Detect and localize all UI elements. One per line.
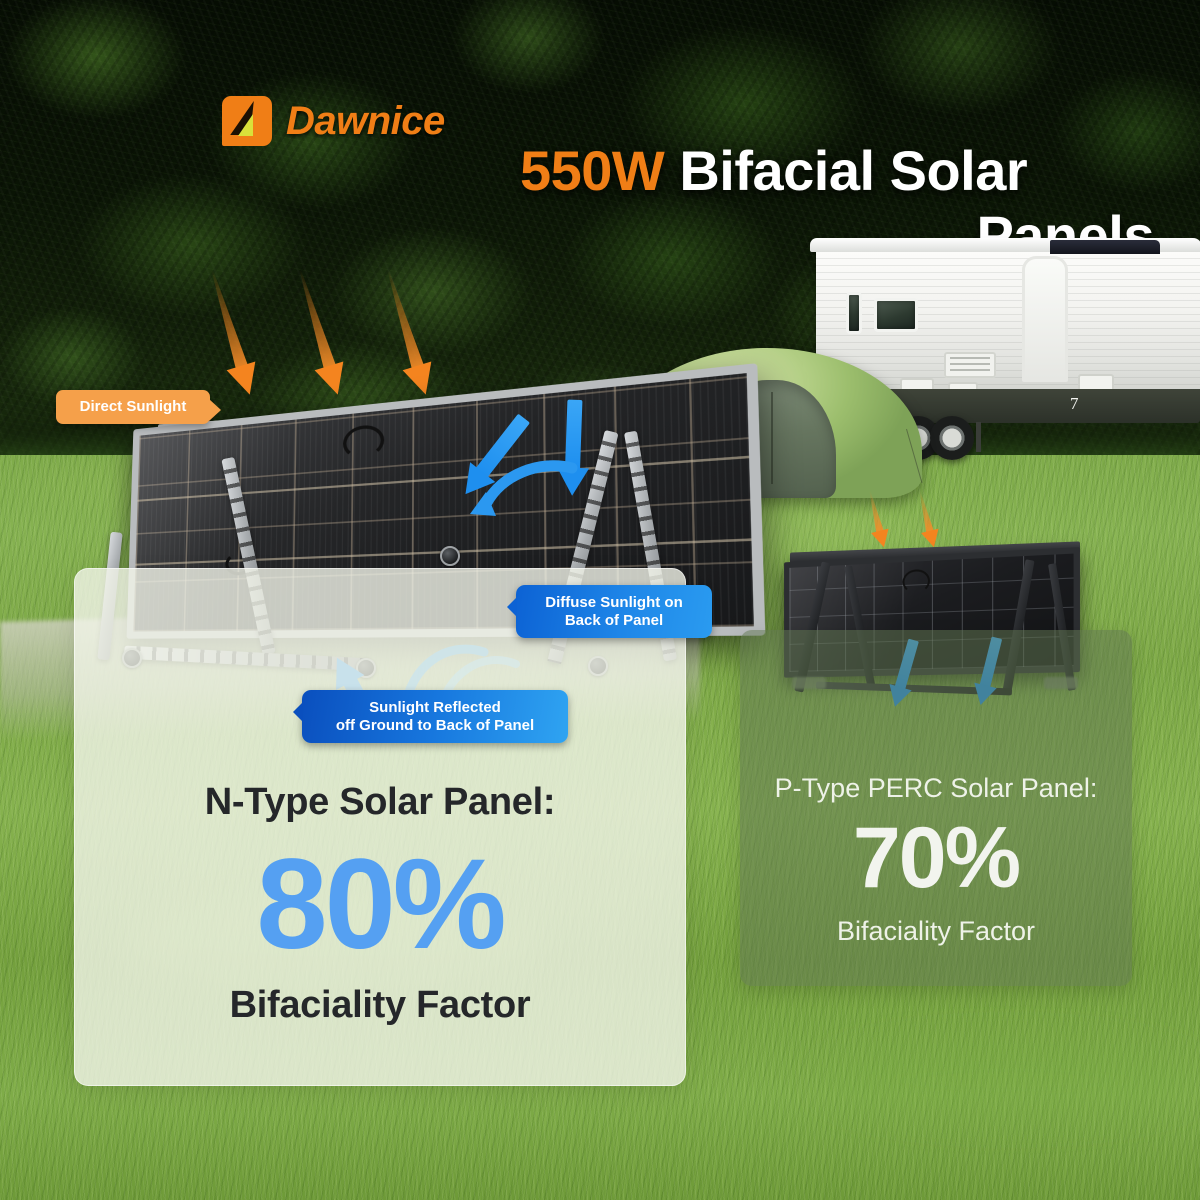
callout-reflected-sunlight: Sunlight Reflected off Ground to Back of… xyxy=(302,690,568,743)
ptype-subtitle: Bifaciality Factor xyxy=(740,916,1132,947)
comparison-card-ptype: P-Type PERC Solar Panel: 70% Bifaciality… xyxy=(740,630,1132,986)
callout-reflected-line1: Sunlight Reflected xyxy=(310,699,560,717)
product-poster: 7 7 xyxy=(0,0,1200,1200)
callout-diffuse-sunlight: Diffuse Sunlight on Back of Panel xyxy=(516,585,712,638)
wattage-label: 550W xyxy=(520,139,664,202)
callout-direct-sunlight: Direct Sunlight xyxy=(56,390,210,424)
diffuse-light-curve-icon xyxy=(452,452,592,552)
comparison-card-ntype: N-Type Solar Panel: 80% Bifaciality Fact… xyxy=(74,568,686,1086)
ptype-percent: 70% xyxy=(740,815,1132,901)
callout-reflected-line2: off Ground to Back of Panel xyxy=(310,717,560,735)
ntype-title: N-Type Solar Panel: xyxy=(75,781,685,824)
ntype-subtitle: Bifaciality Factor xyxy=(75,984,685,1027)
callout-diffuse-line2: Back of Panel xyxy=(524,612,704,630)
page-title-line1: 550W Bifacial Solar xyxy=(0,142,1200,199)
dawnice-logo-icon xyxy=(222,96,272,146)
ptype-title: P-Type PERC Solar Panel: xyxy=(740,773,1132,804)
callout-diffuse-line1: Diffuse Sunlight on xyxy=(524,594,704,612)
rv-marking: 7 xyxy=(1070,394,1079,414)
title-text-line1: Bifacial Solar xyxy=(679,139,1027,202)
ntype-percent: 80% xyxy=(75,841,685,969)
brand-name: Dawnice xyxy=(286,99,445,144)
